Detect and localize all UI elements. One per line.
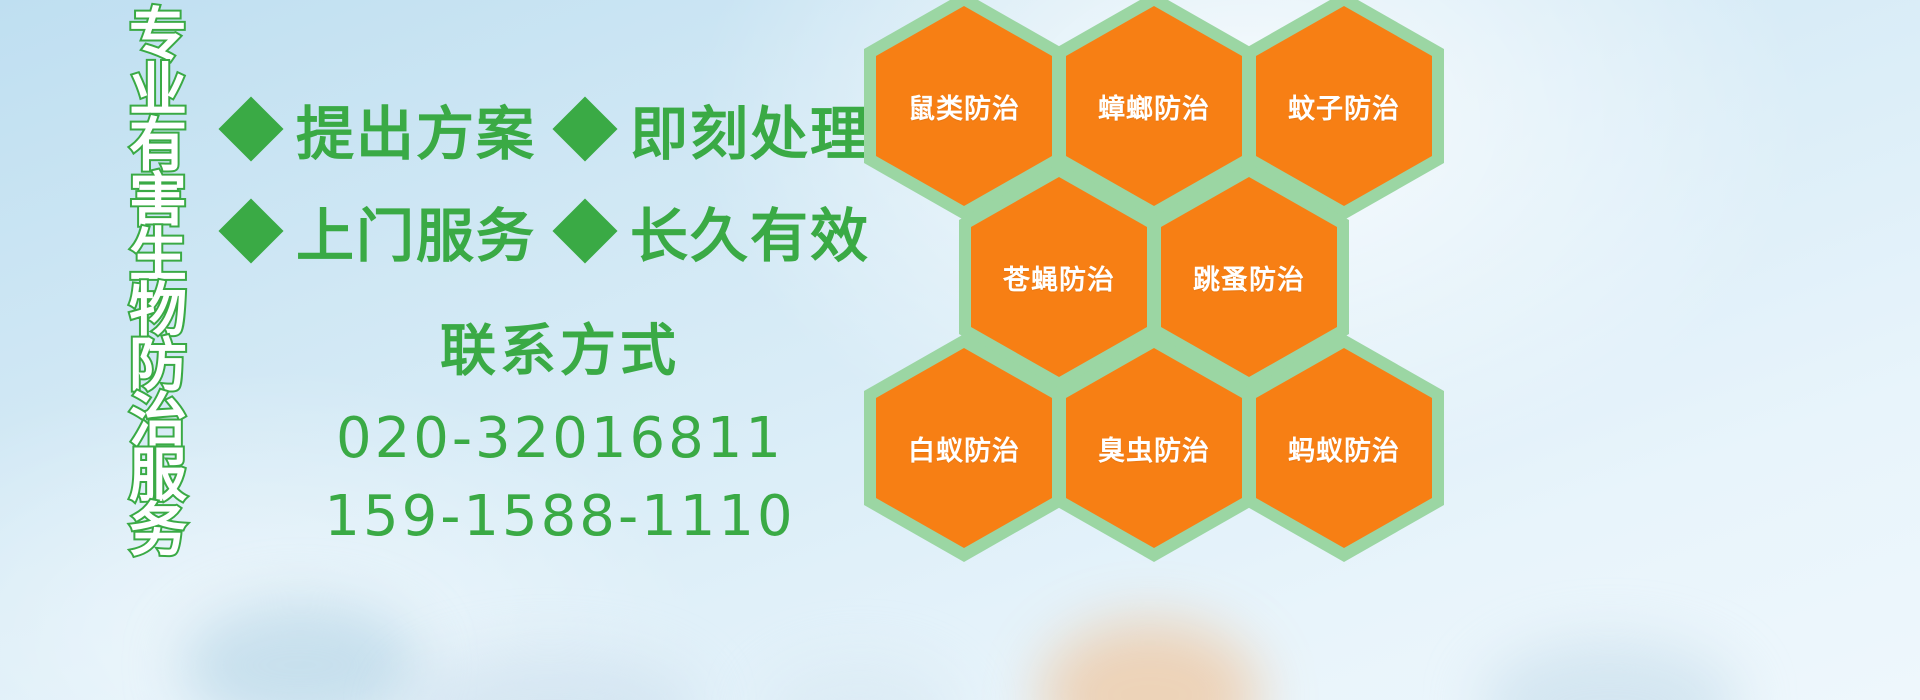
vertical-slogan-char: 物	[129, 283, 187, 338]
feature-item: 即刻处理	[562, 87, 870, 171]
hex-inner: 苍蝇防治	[971, 177, 1147, 377]
vertical-slogan-char: 服	[129, 448, 187, 503]
vertical-slogan-char: 有	[129, 118, 187, 173]
hex-inner: 蚊子防治	[1256, 6, 1432, 206]
feature-label: 长久有效	[630, 189, 870, 273]
contact-phone-landline[interactable]: 020-32016811	[300, 400, 820, 478]
vertical-slogan-char: 害	[129, 173, 187, 228]
service-label: 臭虫防治	[1098, 429, 1210, 468]
vertical-slogan-char: 生	[129, 228, 187, 283]
background-blur-blob	[400, 650, 700, 700]
promo-banner: 专 业 有 害 生 物 防 治 服 务 提出方案 即刻处理 上门服务	[0, 0, 1920, 700]
hex-inner: 鼠类防治	[876, 6, 1052, 206]
background-blur-blob	[180, 600, 420, 700]
service-label: 蟑螂防治	[1098, 87, 1210, 126]
contact-phone-mobile[interactable]: 159-1588-1110	[300, 478, 820, 556]
diamond-icon	[552, 198, 617, 263]
feature-item: 长久有效	[562, 189, 870, 273]
hex-inner: 臭虫防治	[1066, 348, 1242, 548]
service-label: 苍蝇防治	[1003, 258, 1115, 297]
vertical-slogan-char: 治	[129, 393, 187, 448]
contact-block: 联系方式 020-32016811 159-1588-1110	[300, 318, 820, 556]
hex-inner: 蟑螂防治	[1066, 6, 1242, 206]
feature-item: 上门服务	[228, 189, 536, 273]
diamond-icon	[552, 96, 617, 161]
feature-row: 上门服务 长久有效	[228, 180, 868, 282]
vertical-slogan-char: 务	[129, 503, 187, 558]
service-label: 蚂蚁防治	[1288, 429, 1400, 468]
feature-list: 提出方案 即刻处理 上门服务 长久有效	[228, 78, 868, 282]
service-label: 白蚁防治	[908, 429, 1020, 468]
feature-item: 提出方案	[228, 87, 536, 171]
vertical-slogan-char: 专	[129, 8, 187, 63]
service-label: 蚊子防治	[1288, 87, 1400, 126]
hex-inner: 跳蚤防治	[1161, 177, 1337, 377]
feature-row: 提出方案 即刻处理	[228, 78, 868, 180]
vertical-slogan-char: 防	[129, 338, 187, 393]
contact-title: 联系方式	[300, 318, 820, 386]
service-label: 鼠类防治	[908, 87, 1020, 126]
vertical-slogan-char: 业	[129, 63, 187, 118]
service-honeycomb: 鼠类防治 蟑螂防治 蚊子防治 苍蝇防治 跳蚤防治 白蚁防治	[858, 0, 1478, 700]
feature-label: 提出方案	[296, 87, 536, 171]
feature-label: 即刻处理	[630, 87, 870, 171]
diamond-icon	[218, 96, 283, 161]
service-label: 跳蚤防治	[1193, 258, 1305, 297]
feature-label: 上门服务	[296, 189, 536, 273]
diamond-icon	[218, 198, 283, 263]
hex-inner: 蚂蚁防治	[1256, 348, 1432, 548]
background-blur-blob	[1480, 640, 1740, 700]
vertical-slogan: 专 业 有 害 生 物 防 治 服 务	[108, 8, 208, 568]
hex-inner: 白蚁防治	[876, 348, 1052, 548]
